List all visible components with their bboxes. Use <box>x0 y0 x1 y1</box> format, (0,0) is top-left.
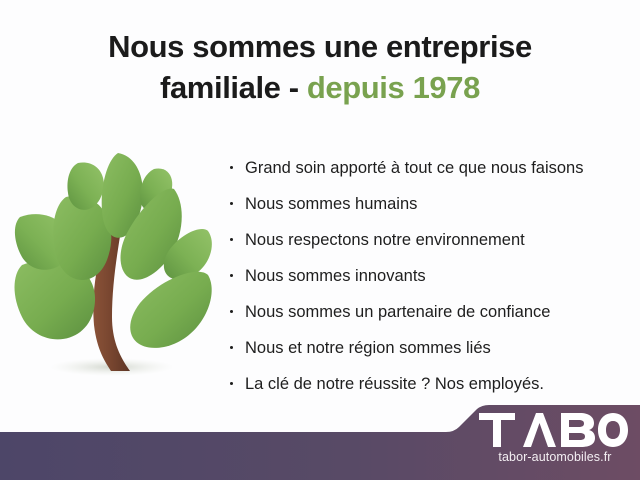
list-item: Nous sommes un partenaire de confiance <box>228 294 628 330</box>
headline-line-1: Nous sommes une entreprise <box>108 29 532 64</box>
list-item-label: La clé de notre réussite ? Nos employés. <box>245 375 544 393</box>
footer-banner <box>0 398 640 480</box>
list-item: Nous et notre région sommes liés <box>228 330 628 366</box>
headline-accent: depuis 1978 <box>307 70 480 105</box>
list-item-label: Nous sommes un partenaire de confiance <box>245 303 550 321</box>
page-title: Nous sommes une entreprise familiale - d… <box>0 26 640 108</box>
list-item-label: Nous et notre région sommes liés <box>245 339 491 357</box>
bullet-icon <box>230 274 233 277</box>
tree-logo-illustration <box>8 145 223 395</box>
bullet-icon <box>230 346 233 349</box>
tree-leaf <box>130 272 211 348</box>
bullet-icon <box>230 166 233 169</box>
footer-banner-shape <box>0 405 640 480</box>
list-item: Nous respectons notre environnement <box>228 222 628 258</box>
list-item-label: Grand soin apporté à tout ce que nous fa… <box>245 159 583 177</box>
list-item-label: Nous respectons notre environnement <box>245 231 525 249</box>
bullet-icon <box>230 310 233 313</box>
slide-canvas: Nous sommes une entreprise familiale - d… <box>0 0 640 480</box>
bullet-icon <box>230 382 233 385</box>
list-item-label: Nous sommes innovants <box>245 267 426 285</box>
value-list: Grand soin apporté à tout ce que nous fa… <box>228 150 628 402</box>
headline-line-2: familiale - depuis 1978 <box>0 67 640 108</box>
list-item: Nous sommes humains <box>228 186 628 222</box>
headline-line-2-plain: familiale - <box>160 70 307 105</box>
list-item: Grand soin apporté à tout ce que nous fa… <box>228 150 628 186</box>
bullet-icon <box>230 202 233 205</box>
list-item-label: Nous sommes humains <box>245 195 417 213</box>
list-item: Nous sommes innovants <box>228 258 628 294</box>
list-item: La clé de notre réussite ? Nos employés. <box>228 366 628 402</box>
bullet-icon <box>230 238 233 241</box>
tree-leaf <box>67 163 103 210</box>
